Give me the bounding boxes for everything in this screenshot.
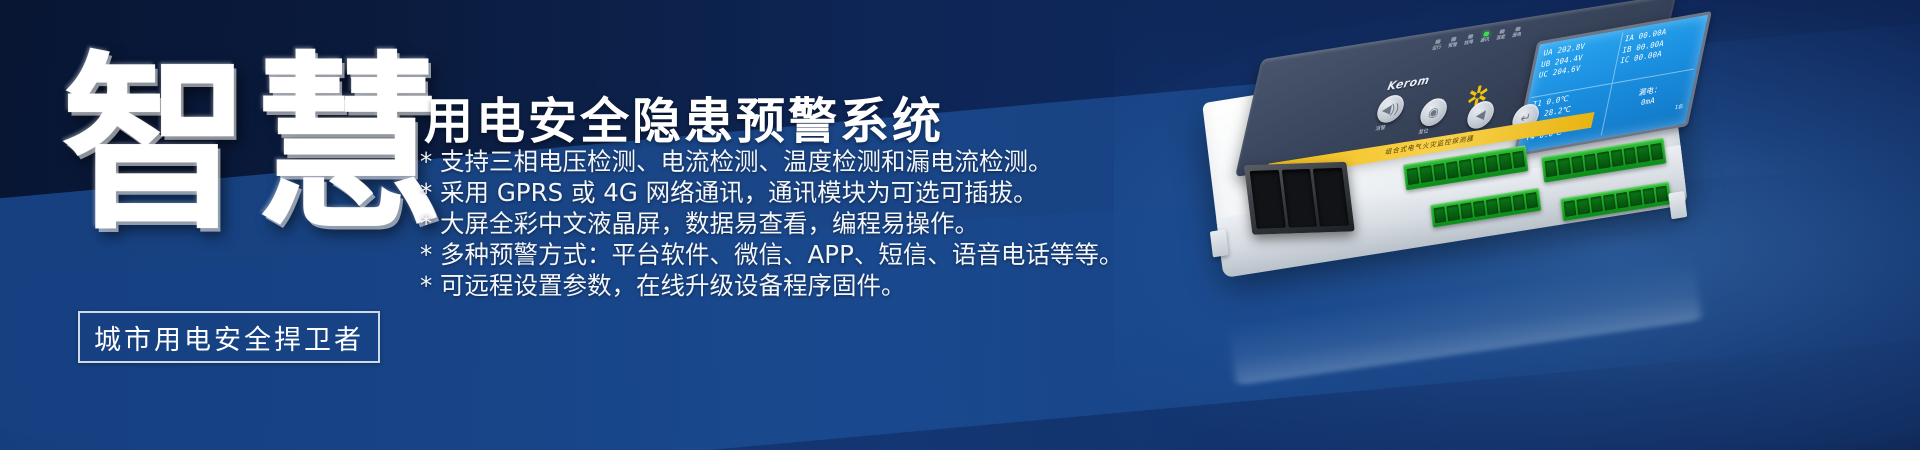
led-label: 温度 bbox=[1496, 34, 1506, 41]
terminal-pin bbox=[1446, 161, 1459, 179]
led-label: 漏电 bbox=[1512, 31, 1522, 38]
led-label: 故障 bbox=[1464, 39, 1474, 46]
speaker-icon: ◀)) bbox=[1380, 100, 1400, 117]
page-title: 用电安全隐患预警系统 bbox=[424, 82, 944, 153]
terminal-pin bbox=[1650, 143, 1663, 161]
led-label: 通讯 bbox=[1480, 36, 1490, 43]
terminal-pin bbox=[1472, 157, 1485, 175]
terminal-pin bbox=[1512, 195, 1525, 211]
status-led-temp: 温度 bbox=[1495, 29, 1507, 42]
terminal-pin bbox=[1473, 201, 1486, 217]
product-image: UA 202.8V UB 204.4V UC 204.6V IA 00.00A … bbox=[1080, 0, 1920, 450]
feature-item: * 可远程设置参数，在线升级设备程序固件。 bbox=[420, 270, 1160, 301]
status-led-comm: 通讯 bbox=[1479, 31, 1491, 44]
terminal-pin bbox=[1597, 151, 1610, 169]
mute-button-label: 消警 bbox=[1375, 124, 1387, 133]
terminal-pin bbox=[1447, 205, 1460, 221]
status-led-alarm: 报警 bbox=[1447, 36, 1459, 49]
triangle-left-icon: ◀ bbox=[1474, 107, 1486, 123]
terminal-pin bbox=[1624, 147, 1637, 165]
status-led-leakage: 漏电 bbox=[1511, 26, 1523, 39]
lcd-footer: I总 bbox=[1674, 101, 1685, 113]
terminal-pin bbox=[1564, 201, 1577, 217]
terminal-pin bbox=[1616, 192, 1629, 208]
page-button[interactable]: ◀ bbox=[1465, 99, 1497, 130]
slogan-text: 城市用电安全捍卫者 bbox=[94, 318, 364, 357]
lcd-leakage-value: 0mA bbox=[1640, 96, 1656, 109]
power-connector bbox=[1244, 162, 1355, 235]
terminal-pin bbox=[1459, 159, 1472, 177]
terminal-pin bbox=[1545, 160, 1558, 178]
status-led-run: 运行 bbox=[1431, 39, 1443, 52]
led-label: 报警 bbox=[1448, 42, 1458, 49]
terminal-pin bbox=[1577, 198, 1590, 214]
terminal-pin bbox=[1420, 165, 1433, 183]
terminal-pin bbox=[1499, 197, 1512, 213]
terminal-pin bbox=[1590, 196, 1603, 212]
terminal-pin bbox=[1486, 199, 1499, 215]
terminal-pin bbox=[1433, 163, 1446, 181]
terminal-pin bbox=[1434, 207, 1447, 223]
promo-banner: 智慧 城市用电安全捍卫者 用电安全隐患预警系统 * 支持三相电压检测、电流检测、… bbox=[0, 0, 1920, 450]
feature-item: * 多种预警方式：平台软件、微信、APP、短信、语音电话等等。 bbox=[420, 239, 1160, 270]
feature-item: * 支持三相电压检测、电流检测、温度检测和漏电流检测。 bbox=[420, 146, 1160, 177]
din-rail-clip bbox=[1668, 191, 1687, 219]
terminal-pin bbox=[1571, 155, 1584, 173]
din-rail-clip bbox=[1210, 229, 1229, 257]
feature-item: * 采用 GPRS 或 4G 网络通讯，通讯模块为可选可插拔。 bbox=[420, 177, 1160, 208]
terminal-pin bbox=[1610, 149, 1623, 167]
status-led-fault: 故障 bbox=[1463, 34, 1475, 47]
terminal-pin bbox=[1655, 186, 1668, 202]
feature-list: * 支持三相电压检测、电流检测、温度检测和漏电流检测。 * 采用 GPRS 或 … bbox=[420, 146, 1160, 301]
terminal-pin bbox=[1629, 190, 1642, 206]
terminal-pin bbox=[1460, 203, 1473, 219]
terminal-pin bbox=[1584, 153, 1597, 171]
led-label: 运行 bbox=[1432, 44, 1442, 51]
connector-slot bbox=[1250, 170, 1286, 229]
reset-button[interactable]: ◉ bbox=[1418, 97, 1450, 128]
slogan-box: 城市用电安全捍卫者 bbox=[78, 311, 380, 363]
terminal-pin bbox=[1642, 188, 1655, 204]
calligraphy-title: 智慧 bbox=[62, 20, 422, 290]
terminal-pin bbox=[1499, 153, 1512, 171]
terminal-pin bbox=[1512, 151, 1525, 169]
reset-button-label: 复位 bbox=[1418, 127, 1430, 136]
connector-slot bbox=[1281, 169, 1317, 228]
reset-icon: ◉ bbox=[1427, 104, 1441, 120]
terminal-pin bbox=[1407, 167, 1420, 185]
connector-slot bbox=[1313, 168, 1349, 227]
terminal-pin bbox=[1637, 145, 1650, 163]
terminal-pin bbox=[1558, 158, 1571, 176]
terminal-pin bbox=[1486, 155, 1499, 173]
terminal-pin bbox=[1603, 194, 1616, 210]
feature-item: * 大屏全彩中文液晶屏，数据易查看，编程易操作。 bbox=[420, 208, 1160, 239]
terminal-pin bbox=[1525, 192, 1538, 208]
